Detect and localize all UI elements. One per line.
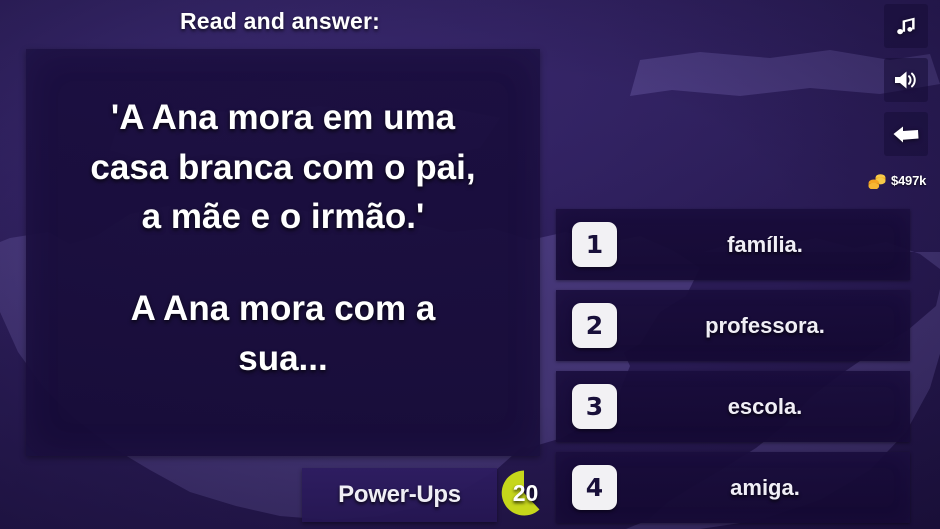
sound-toggle-button[interactable] (884, 58, 928, 102)
coins-icon (868, 172, 888, 189)
answer-option-2[interactable]: 2 professora. (556, 290, 910, 361)
answer-option-number-1: 1 (572, 222, 617, 267)
question-quote: 'A Ana mora em uma casa branca com o pai… (90, 93, 475, 242)
power-ups-timer-value: 20 (501, 470, 547, 516)
currency-display: $497k (868, 170, 934, 190)
back-arrow-icon (891, 123, 921, 145)
speaker-icon (892, 68, 920, 92)
back-button[interactable] (884, 112, 928, 156)
power-ups-label: Power-Ups (338, 481, 461, 509)
question-panel: 'A Ana mora em uma casa branca com o pai… (26, 49, 540, 456)
answer-options-list: 1 família. 2 professora. 3 escola. 4 ami… (556, 209, 910, 529)
power-ups-button[interactable]: Power-Ups (302, 468, 497, 522)
quiz-screen: Read and answer: 'A Ana mora em uma casa… (0, 0, 940, 529)
answer-option-1[interactable]: 1 família. (556, 209, 910, 280)
answer-option-4[interactable]: 4 amiga. (556, 452, 910, 523)
answer-option-number-3: 3 (572, 384, 617, 429)
page-title: Read and answer: (0, 8, 560, 35)
answer-option-number-2: 2 (572, 303, 617, 348)
question-stem: A Ana mora com a sua... (131, 284, 436, 383)
answer-option-number-4: 4 (572, 465, 617, 510)
music-toggle-button[interactable] (884, 4, 928, 48)
answer-option-3[interactable]: 3 escola. (556, 371, 910, 442)
music-note-icon (893, 13, 919, 39)
icon-rail (884, 4, 928, 166)
currency-amount: $497k (891, 173, 926, 188)
power-ups-timer[interactable]: 20 (501, 470, 547, 516)
